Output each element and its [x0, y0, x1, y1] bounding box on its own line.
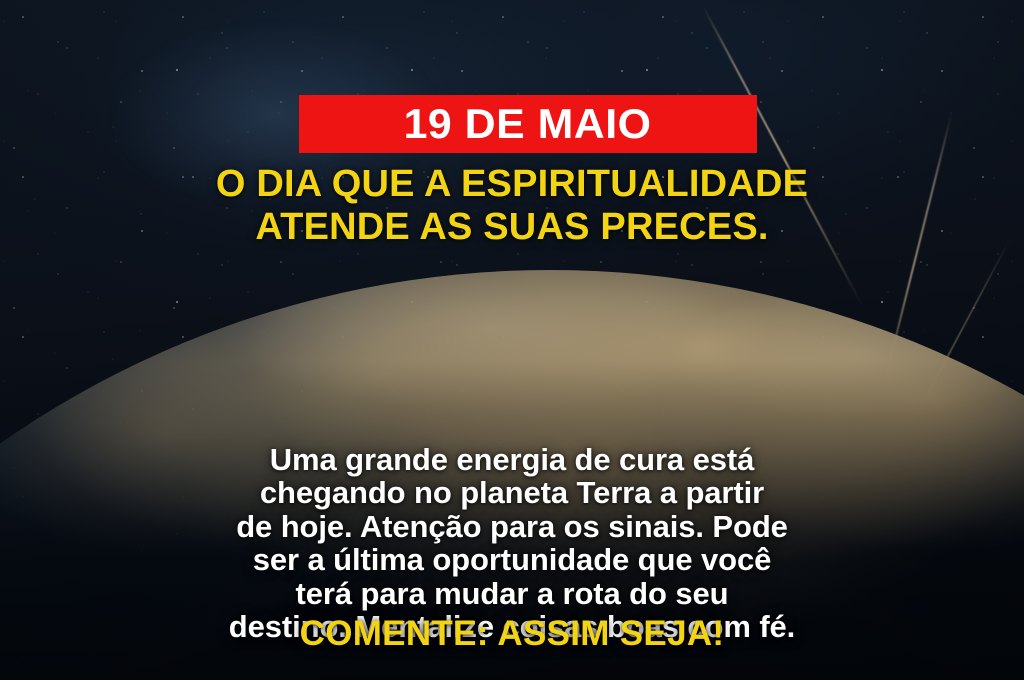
- date-banner-label: 19 DE MAIO: [404, 103, 652, 145]
- headline-line-1: O DIA QUE A ESPIRITUALIDADE: [0, 163, 1024, 206]
- body-line-2: chegando no planeta Terra a partir: [0, 476, 1024, 509]
- headline-line-2: ATENDE AS SUAS PRECES.: [0, 206, 1024, 249]
- body-line-1: Uma grande energia de cura está: [0, 443, 1024, 476]
- body-line-5: terá para mudar a rota do seu: [0, 577, 1024, 610]
- body-line-4: ser a última oportunidade que você: [0, 543, 1024, 576]
- call-to-action-label: COMENTE: ASSIM SEJA!: [0, 616, 1024, 651]
- body-line-3: de hoje. Atenção para os sinais. Pode: [0, 510, 1024, 543]
- poster-content: 19 DE MAIO O DIA QUE A ESPIRITUALIDADE A…: [0, 0, 1024, 685]
- headline: O DIA QUE A ESPIRITUALIDADE ATENDE AS SU…: [0, 163, 1024, 248]
- date-banner: 19 DE MAIO: [299, 95, 757, 153]
- poster-canvas: 19 DE MAIO O DIA QUE A ESPIRITUALIDADE A…: [0, 0, 1024, 685]
- bottom-white-strip: [0, 680, 1024, 685]
